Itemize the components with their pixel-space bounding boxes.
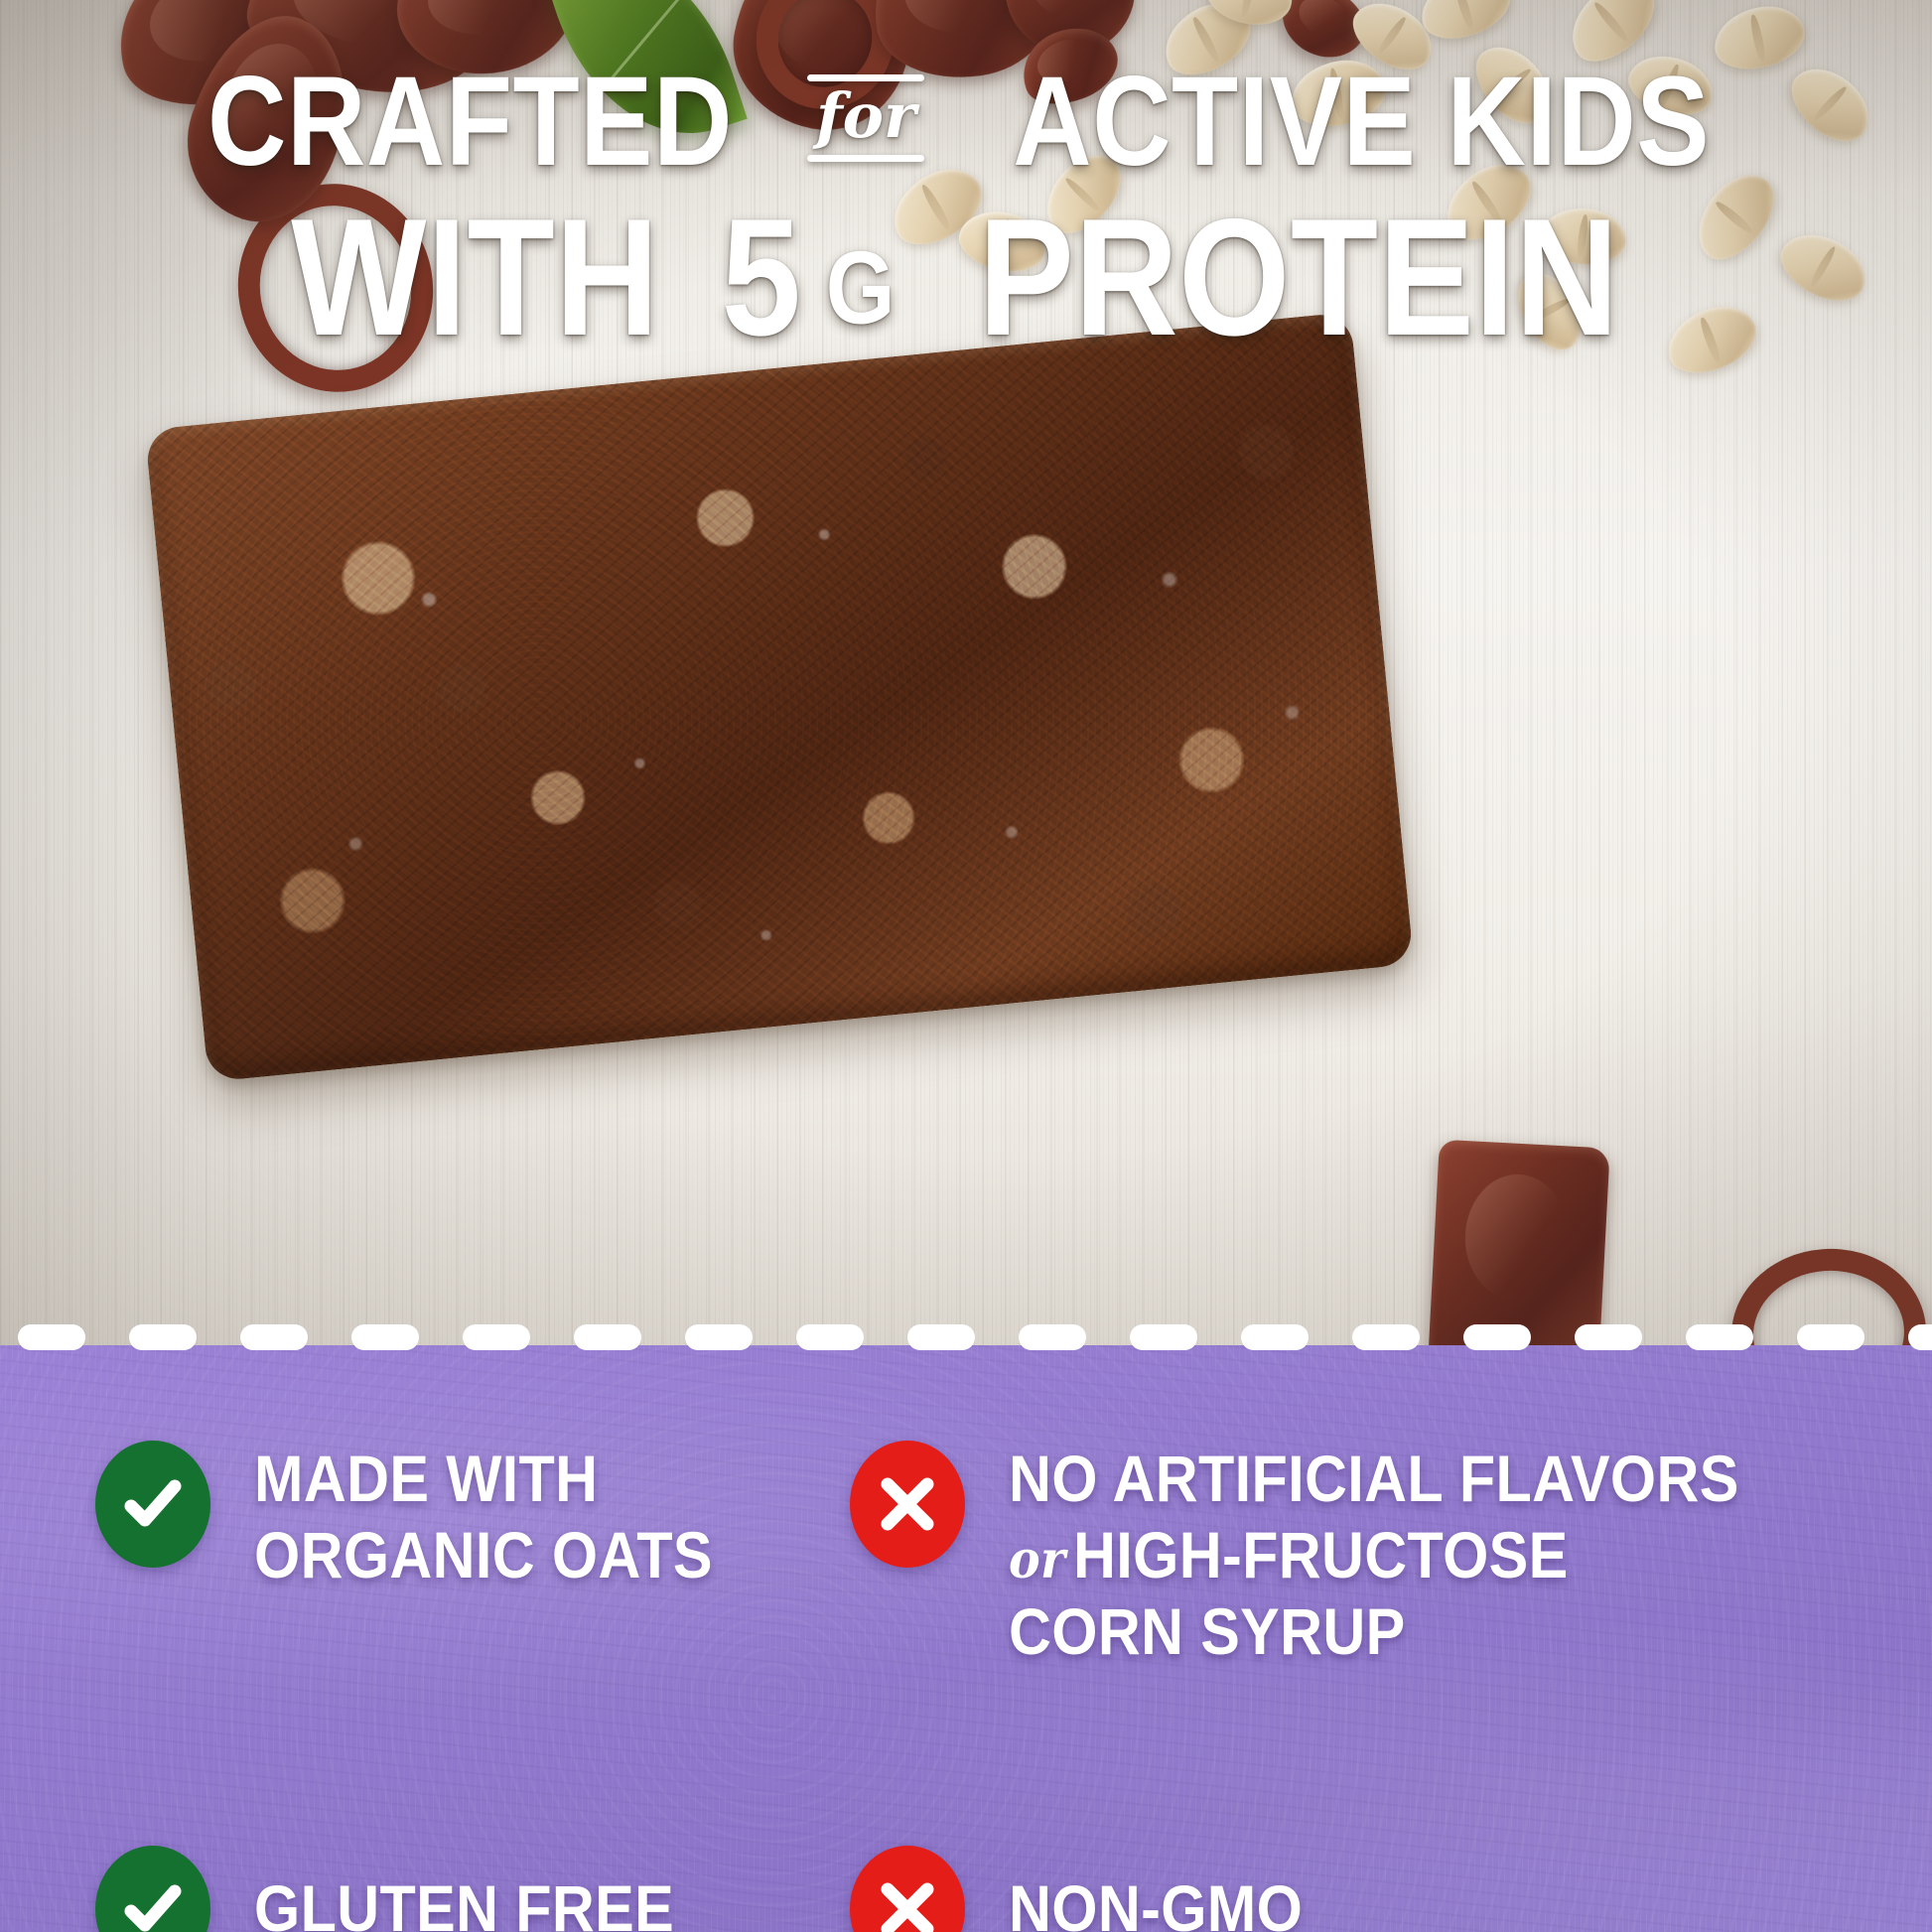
headline-protein-word: PROTEIN: [979, 198, 1619, 357]
divider-dash: [463, 1324, 530, 1350]
divider-dash: [129, 1324, 197, 1350]
headline-line-1: CRAFTED for ACTIVE KIDS: [0, 62, 1932, 184]
headline-active-kids: ACTIVE KIDS: [1014, 62, 1711, 184]
claims-panel: MADE WITH ORGANIC OATS NO ARTIFICIAL FLA…: [0, 1345, 1932, 1932]
headline-protein-amount: 5: [721, 198, 801, 357]
headline-line-2: WITH 5 G PROTEIN: [0, 198, 1932, 357]
claim-gluten-free: GLUTEN FREE: [95, 1738, 850, 1932]
claim-text: NO ARTIFICIAL FLAVORS orHIGH-FRUCTOSE CO…: [1009, 1441, 1820, 1671]
divider-dash: [18, 1324, 85, 1350]
headline-for-word: for: [816, 81, 916, 155]
claim-text: NON-GMO: [1009, 1870, 1335, 1932]
claim-line: HIGH-FRUCTOSE: [1073, 1518, 1569, 1591]
divider-dash: [685, 1324, 753, 1350]
claim-line: NO ARTIFICIAL FLAVORS: [1009, 1441, 1739, 1517]
x-circle-icon: [850, 1846, 965, 1932]
check-circle-icon: [95, 1846, 210, 1932]
x-circle-icon: [850, 1441, 965, 1568]
headline: CRAFTED for ACTIVE KIDS WITH 5 G PROTEIN: [0, 62, 1932, 357]
claim-line: NON-GMO: [1009, 1870, 1303, 1932]
divider-dash: [907, 1324, 975, 1350]
claim-line: ORGANIC OATS: [254, 1517, 713, 1593]
divider-dash: [1575, 1324, 1642, 1350]
divider-dash: [574, 1324, 641, 1350]
claim-line: GLUTEN FREE: [254, 1870, 674, 1932]
claim-made-with-organic-oats: MADE WITH ORGANIC OATS: [95, 1441, 850, 1738]
divider-dash: [351, 1324, 419, 1350]
for-rule-bottom: [807, 155, 924, 162]
divider-dash: [796, 1324, 864, 1350]
divider-dash: [1463, 1324, 1531, 1350]
divider-dash: [1352, 1324, 1420, 1350]
check-circle-icon: [95, 1441, 210, 1568]
claims-grid: MADE WITH ORGANIC OATS NO ARTIFICIAL FLA…: [0, 1345, 1932, 1932]
headline-with: WITH: [291, 198, 659, 357]
headline-protein-unit: G: [825, 238, 895, 338]
divider-dash: [240, 1324, 308, 1350]
divider-dash: [1908, 1324, 1932, 1350]
claim-no-artificial-flavors: NO ARTIFICIAL FLAVORS orHIGH-FRUCTOSE CO…: [850, 1441, 1932, 1738]
product-marketing-image: CRAFTED for ACTIVE KIDS WITH 5 G PROTEIN: [0, 0, 1932, 1932]
claim-text: MADE WITH ORGANIC OATS: [254, 1441, 763, 1593]
claim-text: GLUTEN FREE: [254, 1870, 721, 1932]
divider-dash: [1019, 1324, 1086, 1350]
divider-dash: [1241, 1324, 1309, 1350]
headline-for-script: for: [801, 74, 930, 162]
divider-dash: [1130, 1324, 1197, 1350]
claim-non-gmo: NON-GMO: [850, 1738, 1932, 1932]
claim-line: MADE WITH: [254, 1441, 598, 1517]
headline-crafted: CRAFTED: [207, 62, 733, 184]
divider-dash: [1797, 1324, 1864, 1350]
divider-dash: [1686, 1324, 1753, 1350]
dashed-divider: [0, 1322, 1932, 1352]
claim-line: CORN SYRUP: [1009, 1593, 1406, 1670]
claim-connector: or: [1009, 1529, 1073, 1590]
